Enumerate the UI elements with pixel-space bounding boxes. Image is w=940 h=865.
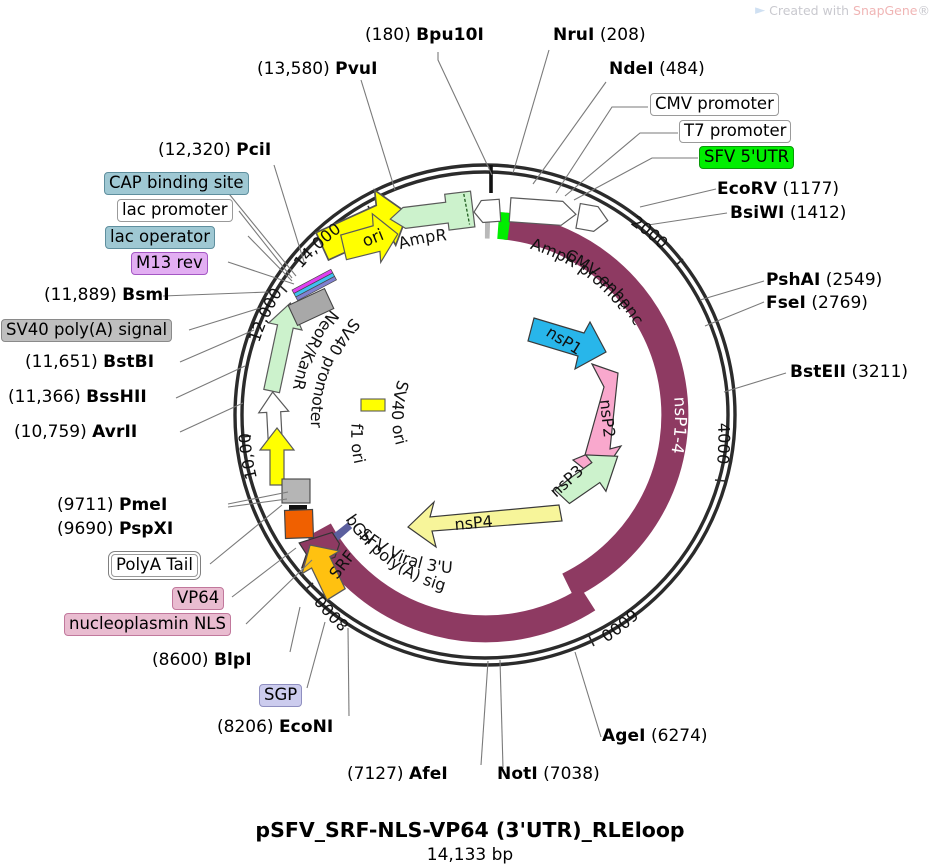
page-title: pSFV_SRF-NLS-VP64 (3'UTR)_RLEloop (0, 818, 940, 842)
enzyme-position: (3211) (851, 362, 908, 382)
map-graphics: 14,000 12,000 10,000 8000 6000 4000 2000… (0, 0, 940, 864)
enzyme-position: (8206) (217, 717, 274, 737)
feature-box-nucleoplasmin-nls[interactable]: nucleoplasmin NLS (64, 613, 231, 636)
enzyme-name: AgeI (602, 726, 646, 746)
feature-box-lac-promoter[interactable]: lac promoter (117, 199, 233, 222)
feature-polya-tail-arrow (260, 428, 294, 485)
enzyme-position: (9690) (57, 519, 114, 539)
feature-box-sfv-5utr[interactable]: SFV 5'UTR (699, 146, 794, 169)
enzyme-position: (8600) (152, 650, 209, 670)
enzyme-name: NruI (553, 25, 594, 45)
plasmid-map: ► Created with SnapGene® (0, 0, 940, 864)
enzyme-label-pmei[interactable]: (9711) PmeI (57, 497, 167, 514)
enzyme-label-pshai[interactable]: PshAI (2549) (766, 272, 882, 289)
feature-box-m13-rev[interactable]: M13 rev (131, 252, 208, 275)
enzyme-name: EcoRV (717, 179, 777, 199)
feature-box-sv40-polya-signal[interactable]: SV40 poly(A) signal (1, 319, 172, 342)
enzyme-label-bsmi[interactable]: (11,889) BsmI (44, 287, 170, 304)
enzyme-label-pvui[interactable]: (13,580) PvuI (257, 61, 378, 78)
svg-text:AmpR promoter: AmpR promoter (0, 0, 632, 312)
enzyme-position: (9711) (57, 495, 114, 515)
junction-segment (337, 531, 342, 537)
enzyme-position: (11,366) (8, 387, 81, 407)
enzyme-label-afei[interactable]: (7127) AfeI (347, 766, 448, 783)
enzyme-name: BstBI (103, 352, 154, 372)
feature-cmv-promoter-arrow (576, 204, 610, 234)
svg-text:6000: 6000 (598, 605, 642, 645)
enzyme-name: PshAI (766, 270, 820, 290)
enzyme-name: PvuI (335, 59, 377, 79)
plasmid-length: 14,133 bp (0, 845, 940, 865)
inner-label-nsp2: nsP2 (596, 398, 619, 438)
enzyme-name: Bpu10I (416, 25, 484, 45)
enzyme-label-blpi[interactable]: (8600) BlpI (152, 652, 252, 669)
enzyme-name: FseI (766, 293, 806, 313)
feature-box-t7-promoter[interactable]: T7 promoter (679, 120, 791, 143)
enzyme-name: BlpI (214, 650, 252, 670)
enzyme-label-avrii[interactable]: (10,759) AvrII (14, 424, 137, 441)
enzyme-label-ndei[interactable]: NdeI (484) (609, 61, 705, 78)
enzyme-label-econi[interactable]: (8206) EcoNI (217, 719, 333, 736)
feature-ampr-promoter-arrow (473, 199, 500, 223)
enzyme-position: (2549) (826, 270, 883, 290)
svg-text:SV40 ori: SV40 ori (388, 378, 413, 447)
enzyme-name: PspXI (119, 519, 173, 539)
enzyme-position: (12,320) (158, 140, 231, 160)
enzyme-name: BstEII (790, 362, 846, 382)
enzyme-label-pcii[interactable]: (12,320) PciI (158, 142, 271, 159)
enzyme-name: PciI (236, 140, 271, 160)
enzyme-name: NdeI (609, 59, 654, 79)
enzyme-label-bsteii[interactable]: BstEII (3211) (790, 364, 908, 381)
enzyme-name: AvrII (92, 422, 137, 442)
svg-text:AmpR: AmpR (396, 225, 448, 253)
enzyme-position: (13,580) (257, 59, 330, 79)
feature-box-vp64[interactable]: VP64 (172, 587, 224, 610)
svg-text:2000: 2000 (628, 212, 672, 253)
enzyme-position: (1177) (783, 179, 840, 199)
enzyme-position: (208) (600, 25, 646, 45)
feature-nucleoplasmin-nls-block (285, 510, 314, 539)
nsp1-4-band-lower (319, 530, 588, 629)
feature-cmv-enhancer-arrow (509, 198, 577, 227)
enzyme-position: (1412) (790, 203, 847, 223)
enzyme-label-pspxi[interactable]: (9690) PspXI (57, 521, 173, 538)
enzyme-label-bpu10i[interactable]: (180) Bpu10I (365, 27, 484, 44)
enzyme-label-ecorv[interactable]: EcoRV (1177) (717, 181, 839, 198)
enzyme-position: (11,889) (44, 285, 117, 305)
enzyme-position: (7038) (543, 764, 600, 784)
enzyme-label-noti[interactable]: NotI (7038) (497, 766, 600, 783)
enzyme-name: BsiWI (730, 203, 784, 223)
enzyme-position: (11,651) (25, 352, 98, 372)
enzyme-position: (484) (659, 59, 705, 79)
enzyme-label-bstbi[interactable]: (11,651) BstBI (25, 354, 154, 371)
enzyme-name: BsmI (122, 285, 170, 305)
enzyme-label-bsiwi[interactable]: BsiWI (1412) (730, 205, 846, 222)
feature-box-polya-tail[interactable]: PolyA Tail (111, 554, 198, 577)
enzyme-name: AfeI (409, 764, 448, 784)
enzyme-label-bsshii[interactable]: (11,366) BssHII (8, 389, 147, 406)
sfv-5utr-segment (498, 225, 509, 226)
feature-box-cmv-promoter[interactable]: CMV promoter (650, 93, 779, 116)
feature-sv40-ori-box (361, 399, 385, 411)
enzyme-name: NotI (497, 764, 538, 784)
enzyme-name: PmeI (119, 495, 167, 515)
enzyme-position: (6274) (651, 726, 708, 746)
svg-text:f1 ori: f1 ori (347, 423, 369, 466)
enzyme-label-nrui[interactable]: NruI (208) (553, 27, 646, 44)
inner-label-nsp4: nsP4 (454, 512, 494, 534)
svg-text:4000: 4000 (713, 422, 733, 465)
feature-box-cap-binding-site[interactable]: CAP binding site (104, 172, 249, 195)
enzyme-position: (180) (365, 25, 411, 45)
nsp1-4-band (468, 226, 694, 595)
enzyme-name: BssHII (86, 387, 147, 407)
enzyme-position: (7127) (347, 764, 404, 784)
enzyme-label-agei[interactable]: AgeI (6274) (602, 728, 708, 745)
enzyme-name: EcoNI (279, 717, 333, 737)
enzyme-position: (10,759) (14, 422, 87, 442)
feature-box-sgp[interactable]: SGP (259, 684, 302, 707)
enzyme-position: (2769) (811, 293, 868, 313)
enzyme-label-fsei[interactable]: FseI (2769) (766, 295, 868, 312)
feature-box-lac-operator[interactable]: lac operator (105, 226, 215, 249)
